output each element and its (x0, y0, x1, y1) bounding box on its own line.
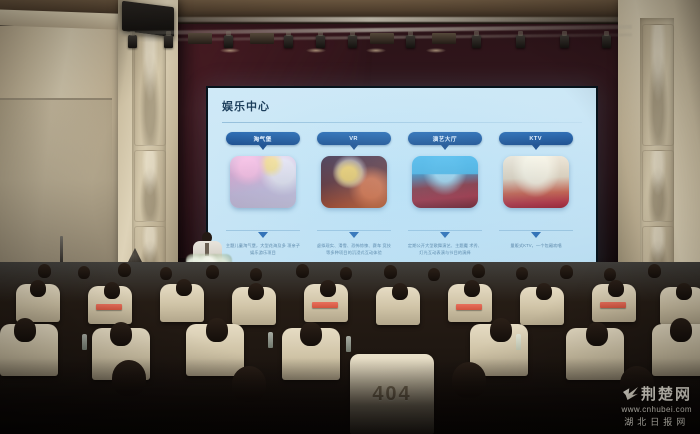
card-label-pill: KTV (499, 132, 573, 145)
conference-photo: 娱乐中心 淘气堡 VR (0, 0, 700, 434)
attendee-head (670, 318, 692, 342)
stage-light (348, 35, 357, 48)
card-label-pill: 演艺大厅 (408, 132, 482, 145)
attendee-head (392, 283, 408, 300)
attendee-head (586, 322, 608, 346)
stage-light-box (250, 33, 274, 44)
slide-card: VR (313, 132, 395, 208)
attendee-head (428, 268, 440, 281)
chevron-down-icon (440, 232, 450, 238)
stage-light (316, 35, 325, 48)
column-carving-panel-left (132, 18, 166, 286)
attendee-head (248, 283, 264, 300)
attendee-head (110, 322, 132, 346)
stage-light (128, 35, 137, 48)
stage-light-box (370, 33, 394, 44)
table-name-card (600, 302, 626, 308)
water-bottle (268, 332, 273, 348)
slide-card: KTV (495, 132, 577, 208)
attendee-head (516, 267, 528, 280)
attendee-head (14, 318, 36, 342)
thumb-vr (321, 156, 387, 208)
card-label: KTV (530, 136, 543, 142)
projection-screen: 娱乐中心 淘气堡 VR (208, 88, 596, 278)
stage-light (224, 35, 233, 48)
stage-light (516, 35, 525, 48)
attendee-head (340, 267, 352, 280)
attendee-head (536, 283, 552, 300)
card-description: 量贩式KTV，一个包厢欢唱 (497, 242, 575, 249)
thumb-overlay (230, 156, 296, 208)
column-carving-panel-right (640, 18, 674, 286)
description-divider (408, 230, 482, 231)
stage-light (284, 35, 293, 48)
attendee-head (648, 264, 661, 278)
stage-light-glow (306, 48, 326, 53)
attendee-head (176, 279, 192, 296)
attendee-head (250, 268, 262, 281)
water-bottle (516, 334, 521, 350)
slide-card: 演艺大厅 (404, 132, 486, 208)
chevron-down-icon (531, 232, 541, 238)
stage-light (472, 35, 481, 48)
slide-description-cell: 量贩式KTV，一个包厢欢唱 (495, 230, 577, 256)
card-label-pill: 淘气堡 (226, 132, 300, 145)
attendee-head (490, 318, 512, 342)
attendee-head (104, 282, 120, 299)
attendee-head (676, 283, 692, 300)
stage-light (602, 35, 611, 48)
table-name-card (456, 304, 482, 310)
water-bottle (346, 336, 351, 352)
stage-light-box (188, 33, 212, 44)
table-name-card (96, 304, 122, 310)
audience-seating: 404 (0, 262, 700, 434)
attendee-head (30, 280, 46, 297)
watermark-brand-row: 荆楚网 (622, 383, 692, 404)
stage-light-glow (366, 48, 386, 53)
slide-card-row: 淘气堡 VR 演艺大厅 (222, 132, 582, 208)
thumb-overlay (412, 156, 478, 208)
column-carving-mid-left (134, 150, 166, 222)
attendee-head (160, 267, 172, 280)
card-label: VR (350, 136, 359, 142)
thumb-taoqibao (230, 156, 296, 208)
audience-foreground-shadow (0, 358, 700, 434)
attendee-head (296, 264, 309, 278)
thumb-yanyi-hall (412, 156, 478, 208)
attendee-head (38, 264, 51, 278)
slide-description-cell: 定期公开大型歌舞演艺、主题魔 术秀、灯光互动表演与节目的演绎 (404, 230, 486, 256)
description-divider (317, 230, 391, 231)
attendee-head (118, 263, 131, 277)
card-label-pill: VR (317, 132, 391, 145)
stage-light (164, 35, 173, 48)
table-name-card (312, 302, 338, 308)
lighting-truss (120, 22, 632, 52)
slide-title: 娱乐中心 (222, 98, 582, 114)
attendee-head (300, 322, 322, 346)
watermark-subtitle: 湖北日报网 (622, 415, 692, 428)
column-carving-top-right (642, 24, 674, 146)
stage-light-glow (220, 48, 240, 53)
attendee-head (472, 264, 485, 278)
slide-card: 淘气堡 (222, 132, 304, 208)
column-carving-mid-right (642, 150, 674, 222)
stage-light (406, 35, 415, 48)
thumb-ktv (503, 156, 569, 208)
attendee-head (320, 280, 336, 297)
card-description: 定期公开大型歌舞演艺、主题魔 术秀、灯光互动表演与节目的演绎 (406, 242, 484, 256)
description-divider (499, 230, 573, 231)
thumb-overlay (503, 156, 569, 208)
card-label: 演艺大厅 (433, 134, 457, 143)
attendee-head (608, 280, 624, 297)
stage-light (560, 35, 569, 48)
watermark: 荆楚网 www.cnhubei.com 湖北日报网 (622, 383, 692, 428)
presentation-slide: 娱乐中心 淘气堡 VR (208, 88, 596, 278)
watermark-brand: 荆楚网 (641, 383, 692, 404)
jingchu-logo-icon (623, 387, 638, 400)
attendee-head (206, 265, 219, 279)
thumb-overlay (321, 156, 387, 208)
slide-description-row: 主题儿童淘气堡，大型花海及多 项亲子娱乐游乐项目 虚拟现实、滑雪、恐怖惊悚、赛车… (222, 230, 582, 256)
attendee-head (206, 318, 228, 342)
attendee-head (78, 266, 90, 279)
stage-light-glow (426, 48, 446, 53)
chevron-down-icon (349, 232, 359, 238)
slide-title-divider (222, 122, 582, 123)
card-label: 淘气堡 (254, 134, 272, 143)
chevron-down-icon (258, 232, 268, 238)
attendee-head (560, 265, 573, 279)
watermark-url: www.cnhubei.com (622, 405, 692, 414)
attendee-head (384, 265, 397, 279)
card-description: 虚拟现实、滑雪、恐怖惊悚、赛车 竞技等多种项目的沉浸式互动体验 (315, 242, 393, 256)
attendee-head (464, 280, 480, 297)
stage-light-box (432, 33, 456, 44)
slide-description-cell: 虚拟现实、滑雪、恐怖惊悚、赛车 竞技等多种项目的沉浸式互动体验 (313, 230, 395, 256)
water-bottle (82, 334, 87, 350)
